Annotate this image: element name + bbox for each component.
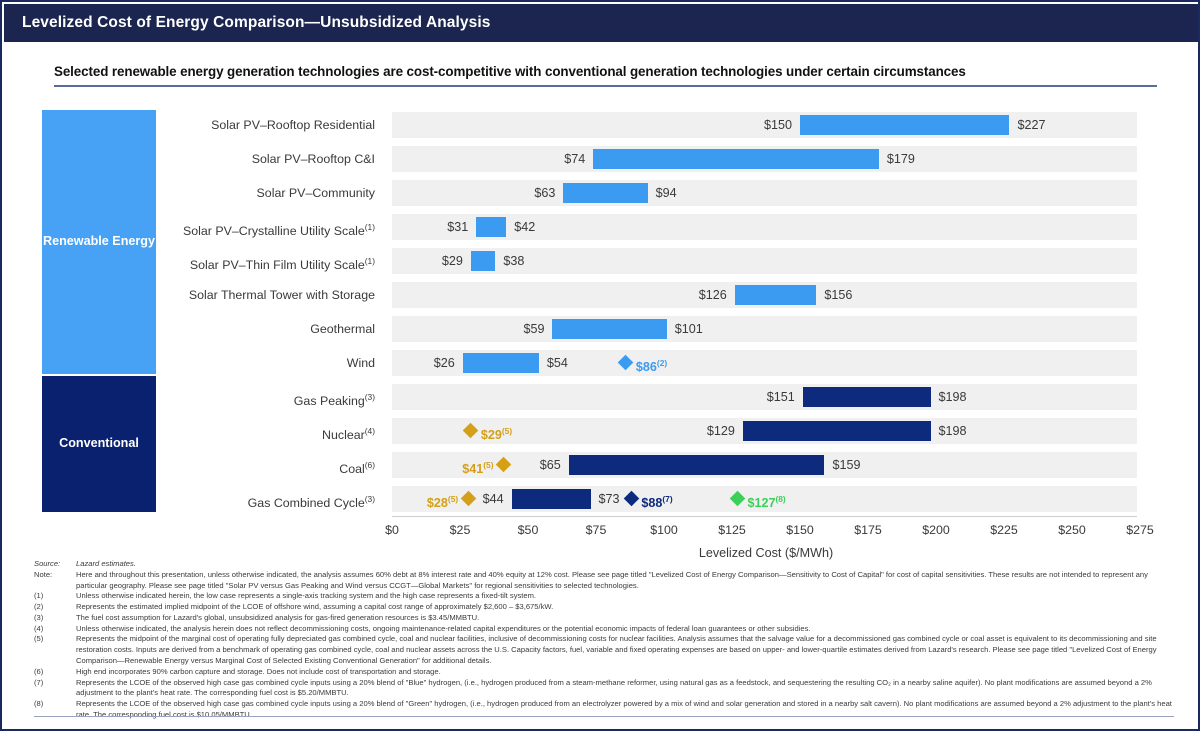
- range-bar: [476, 217, 506, 237]
- row-label: Coal(6): [170, 455, 375, 479]
- x-axis-tick-label: $275: [1110, 523, 1170, 537]
- row-track: [392, 384, 1137, 410]
- chart-row: Solar PV–Rooftop Residential$150$227: [2, 110, 1200, 140]
- bar-low-value: $126: [699, 285, 727, 305]
- row-label: Solar PV–Crystalline Utility Scale(1): [170, 217, 375, 241]
- x-axis-tick-label: $225: [974, 523, 1034, 537]
- footnote-row: Source:Lazard estimates.: [34, 559, 1174, 570]
- range-bar: [512, 489, 591, 509]
- diamond-marker-label: $29(5): [481, 421, 512, 445]
- x-axis-title: Levelized Cost ($/MWh): [566, 546, 966, 560]
- category-block-conventional: Conventional: [42, 376, 156, 512]
- footnotes-divider: [34, 716, 1174, 717]
- row-label: Gas Peaking(3): [170, 387, 375, 411]
- x-axis-tick-label: $100: [634, 523, 694, 537]
- chart-row: Solar PV–Crystalline Utility Scale(1)$31…: [2, 212, 1200, 242]
- footnote-row: (8)Represents the LCOE of the observed h…: [34, 699, 1174, 721]
- bar-high-value: $94: [656, 183, 677, 203]
- chart-row: Geothermal$59$101: [2, 314, 1200, 344]
- subtitle-text: Selected renewable energy generation tec…: [54, 64, 1157, 85]
- row-track: [392, 452, 1137, 478]
- range-bar: [743, 421, 931, 441]
- x-axis-tick-label: $50: [498, 523, 558, 537]
- row-track: [392, 146, 1137, 172]
- footnote-key: Source:: [34, 559, 76, 570]
- range-bar: [463, 353, 539, 373]
- x-axis-tick-label: $150: [770, 523, 830, 537]
- bar-high-value: $38: [503, 251, 524, 271]
- diamond-marker-icon: [463, 423, 479, 439]
- x-axis-tick-label: $0: [362, 523, 422, 537]
- row-label: Solar PV–Thin Film Utility Scale(1): [170, 251, 375, 275]
- slide-header: Levelized Cost of Energy Comparison—Unsu…: [4, 4, 1198, 42]
- slide-page: Levelized Cost of Energy Comparison—Unsu…: [0, 0, 1200, 731]
- footnote-row: (5)Represents the midpoint of the margin…: [34, 634, 1174, 666]
- footnote-text: Represents the LCOE of the observed high…: [76, 699, 1174, 721]
- bar-low-value: $44: [483, 489, 504, 509]
- range-bar: [569, 455, 825, 475]
- chart-row: Solar PV–Thin Film Utility Scale(1)$29$3…: [2, 246, 1200, 276]
- diamond-marker-icon: [624, 491, 640, 507]
- row-label: Nuclear(4): [170, 421, 375, 445]
- footnote-text: Here and throughout this presentation, u…: [76, 570, 1174, 592]
- chart-row: Gas Peaking(3)$151$198: [2, 382, 1200, 412]
- bar-high-value: $227: [1017, 115, 1045, 135]
- bar-low-value: $74: [564, 149, 585, 169]
- chart-row: Solar PV–Community$63$94: [2, 178, 1200, 208]
- diamond-marker-label: $86(2): [636, 353, 667, 377]
- footnote-text: Lazard estimates.: [76, 559, 1174, 570]
- diamond-marker-icon: [618, 355, 634, 371]
- row-label: Gas Combined Cycle(3): [170, 489, 375, 513]
- footnote-key: (6): [34, 667, 76, 678]
- footnote-text: The fuel cost assumption for Lazard's gl…: [76, 613, 1174, 624]
- bar-high-value: $198: [939, 387, 967, 407]
- chart-row: Solar Thermal Tower with Storage$126$156: [2, 280, 1200, 310]
- footnote-text: Unless otherwise indicated herein, the l…: [76, 591, 1174, 602]
- chart-row: Nuclear(4)$129$198$29(5): [2, 416, 1200, 446]
- bar-high-value: $54: [547, 353, 568, 373]
- bar-high-value: $198: [939, 421, 967, 441]
- chart-row: Solar PV–Rooftop C&I$74$179: [2, 144, 1200, 174]
- footnote-text: Represents the LCOE of the observed high…: [76, 678, 1174, 700]
- row-label: Solar Thermal Tower with Storage: [170, 285, 375, 305]
- diamond-marker-label: $88(7): [641, 489, 672, 513]
- footnote-row: (4)Unless otherwise indicated, the analy…: [34, 624, 1174, 635]
- bar-low-value: $59: [523, 319, 544, 339]
- bar-high-value: $42: [514, 217, 535, 237]
- bar-low-value: $63: [534, 183, 555, 203]
- bar-low-value: $29: [442, 251, 463, 271]
- row-label: Solar PV–Rooftop C&I: [170, 149, 375, 169]
- row-track: [392, 248, 1137, 274]
- diamond-marker-icon: [730, 491, 746, 507]
- bar-high-value: $179: [887, 149, 915, 169]
- row-label: Wind: [170, 353, 375, 373]
- bar-high-value: $159: [832, 455, 860, 475]
- x-axis-tick-label: $175: [838, 523, 898, 537]
- footnote-text: Unless otherwise indicated, the analysis…: [76, 624, 1174, 635]
- footnote-row: (6)High end incorporates 90% carbon capt…: [34, 667, 1174, 678]
- footnote-text: Represents the estimated implied midpoin…: [76, 602, 1174, 613]
- bar-low-value: $65: [540, 455, 561, 475]
- bar-low-value: $150: [764, 115, 792, 135]
- bar-high-value: $73: [599, 489, 620, 509]
- range-bar: [593, 149, 879, 169]
- diamond-marker-label: $28(5): [427, 489, 458, 513]
- row-track: [392, 486, 1137, 512]
- x-axis-tick-label: $250: [1042, 523, 1102, 537]
- range-bar: [735, 285, 817, 305]
- range-bar: [563, 183, 647, 203]
- chart-row: Coal(6)$65$159$41(5): [2, 450, 1200, 480]
- range-bar: [471, 251, 495, 271]
- x-axis-tick-label: $200: [906, 523, 966, 537]
- row-track: [392, 112, 1137, 138]
- bar-high-value: $101: [675, 319, 703, 339]
- range-bar: [800, 115, 1009, 135]
- row-track: [392, 180, 1137, 206]
- range-bar: [552, 319, 666, 339]
- footnote-key: (8): [34, 699, 76, 710]
- footnote-key: (1): [34, 591, 76, 602]
- footnote-key: (7): [34, 678, 76, 689]
- footnote-row: (3)The fuel cost assumption for Lazard's…: [34, 613, 1174, 624]
- diamond-marker-label: $127(8): [747, 489, 785, 513]
- diamond-marker-icon: [460, 491, 476, 507]
- footnote-text: High end incorporates 90% carbon capture…: [76, 667, 1174, 678]
- diamond-marker-label: $41(5): [462, 455, 493, 479]
- row-track: [392, 316, 1137, 342]
- footnote-key: (4): [34, 624, 76, 635]
- bar-low-value: $26: [434, 353, 455, 373]
- footnote-text: Represents the midpoint of the marginal …: [76, 634, 1174, 666]
- bar-low-value: $31: [447, 217, 468, 237]
- footnote-row: (2)Represents the estimated implied midp…: [34, 602, 1174, 613]
- x-axis-tick-label: $75: [566, 523, 626, 537]
- x-axis-tick-label: $25: [430, 523, 490, 537]
- chart-row: Gas Combined Cycle(3)$44$73$28(5)$88(7)$…: [2, 484, 1200, 514]
- row-label: Solar PV–Rooftop Residential: [170, 115, 375, 135]
- category-block-renewable: Renewable Energy: [42, 110, 156, 374]
- row-label: Geothermal: [170, 319, 375, 339]
- footnote-row: (1)Unless otherwise indicated herein, th…: [34, 591, 1174, 602]
- footnote-key: (2): [34, 602, 76, 613]
- bar-low-value: $151: [767, 387, 795, 407]
- diamond-marker-icon: [496, 457, 512, 473]
- row-track: [392, 350, 1137, 376]
- footnote-row: Note:Here and throughout this presentati…: [34, 570, 1174, 592]
- range-bar: [803, 387, 931, 407]
- subtitle-divider: [54, 85, 1157, 87]
- page-title: Levelized Cost of Energy Comparison—Unsu…: [4, 14, 491, 32]
- row-track: [392, 282, 1137, 308]
- footnote-key: (5): [34, 634, 76, 645]
- bar-high-value: $156: [824, 285, 852, 305]
- footnote-key: Note:: [34, 570, 76, 581]
- footnote-key: (3): [34, 613, 76, 624]
- footnote-row: (7)Represents the LCOE of the observed h…: [34, 678, 1174, 700]
- row-label: Solar PV–Community: [170, 183, 375, 203]
- x-axis-tick-label: $125: [702, 523, 762, 537]
- chart-row: Wind$26$54$86(2): [2, 348, 1200, 378]
- footnotes-block: Source:Lazard estimates.Note:Here and th…: [34, 559, 1174, 721]
- row-track: [392, 418, 1137, 444]
- x-axis-line: [392, 516, 1137, 517]
- subtitle-block: Selected renewable energy generation tec…: [54, 64, 1157, 87]
- row-track: [392, 214, 1137, 240]
- bar-low-value: $129: [707, 421, 735, 441]
